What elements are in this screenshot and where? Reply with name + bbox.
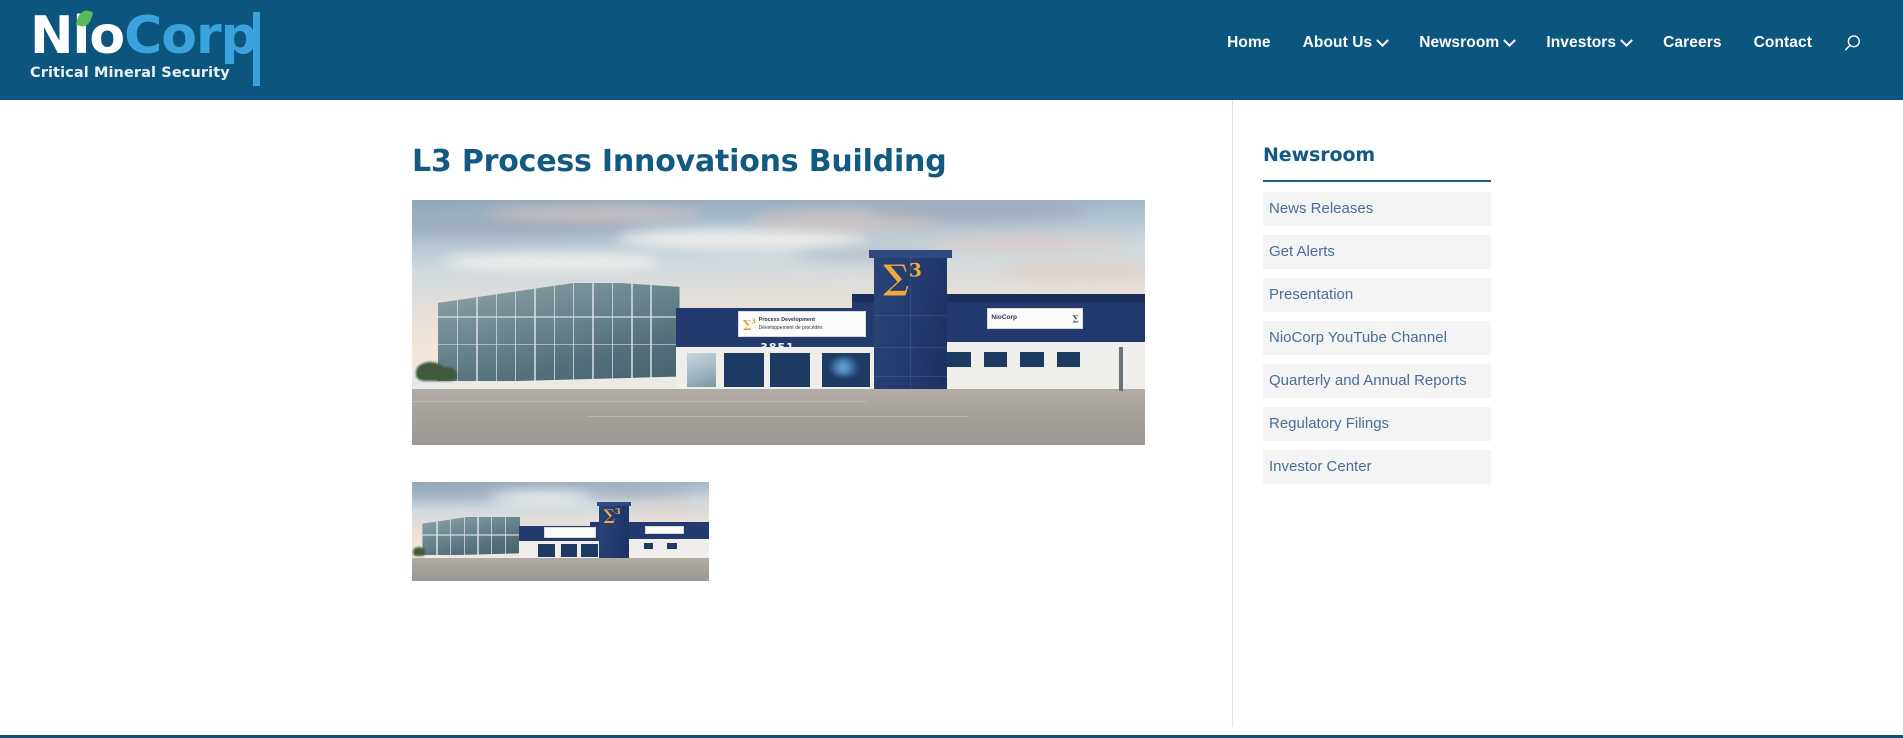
chevron-down-icon — [1503, 34, 1516, 47]
corner-sign: NioCorp ∑ — [987, 308, 1082, 329]
nav-label: About Us — [1303, 34, 1373, 52]
corner-sign-text: NioCorp — [991, 314, 1017, 323]
main-navigation: Home About Us Newsroom Investors Careers… — [1211, 30, 1863, 56]
column-divider — [1232, 100, 1233, 727]
nav-item-newsroom[interactable]: Newsroom — [1403, 30, 1530, 56]
wall-sign-line2: Développement de procédés — [759, 325, 823, 332]
chevron-down-icon — [1376, 34, 1389, 47]
nav-label: Home — [1227, 34, 1270, 52]
thumbnail-image[interactable]: ∑3 — [412, 482, 709, 581]
nav-item-about-us[interactable]: About Us — [1287, 30, 1404, 56]
building-photo-scene: NioCorp ∑ — [412, 200, 1145, 445]
logo-text-nio: Nio — [30, 6, 124, 66]
nav-item-home[interactable]: Home — [1211, 30, 1286, 56]
sidebar-item-investor-center[interactable]: Investor Center — [1263, 450, 1491, 484]
chevron-down-icon — [1620, 34, 1633, 47]
sigma-logo-icon: ∑3 — [883, 261, 922, 295]
sidebar: Newsroom News Releases Get Alerts Presen… — [1263, 100, 1491, 493]
wall-sign-line1: Process Development — [759, 317, 823, 324]
site-logo[interactable]: NioCorp Critical Mineral Security — [30, 8, 257, 81]
sidebar-item-regulatory-filings[interactable]: Regulatory Filings — [1263, 407, 1491, 441]
sidebar-item-youtube-channel[interactable]: NioCorp YouTube Channel — [1263, 321, 1491, 355]
street-number: 3851 — [760, 341, 795, 354]
logo-tagline: Critical Mineral Security — [30, 65, 257, 81]
main-content: L3 Process Innovations Building — [412, 100, 1152, 581]
featured-image[interactable]: NioCorp ∑ — [412, 200, 1145, 445]
nav-label: Investors — [1546, 34, 1616, 52]
sidebar-item-presentation[interactable]: Presentation — [1263, 278, 1491, 312]
sidebar-title: Newsroom — [1263, 144, 1491, 166]
sidebar-item-news-releases[interactable]: News Releases — [1263, 192, 1491, 226]
logo-text-corp: Corp — [124, 6, 257, 66]
nav-label: Careers — [1663, 34, 1721, 52]
sidebar-menu: News Releases Get Alerts Presentation Ni… — [1263, 192, 1491, 484]
page-body: L3 Process Innovations Building — [0, 100, 1903, 738]
parking-lot — [412, 389, 1145, 445]
logo-bar-accent — [253, 12, 260, 86]
nav-label: Newsroom — [1419, 34, 1499, 52]
nav-label: Contact — [1754, 34, 1812, 52]
nav-item-careers[interactable]: Careers — [1647, 30, 1737, 56]
search-icon[interactable] — [1842, 33, 1863, 54]
logo-wordmark: NioCorp — [30, 8, 257, 64]
sidebar-title-rule — [1263, 180, 1491, 182]
page-title: L3 Process Innovations Building — [412, 144, 1152, 179]
sigma-logo-small: ∑3 — [743, 319, 755, 330]
sidebar-item-quarterly-annual-reports[interactable]: Quarterly and Annual Reports — [1263, 364, 1491, 398]
site-header: NioCorp Critical Mineral Security Home A… — [0, 0, 1903, 100]
wall-sign: ∑3 Process Development Développement de … — [738, 311, 866, 337]
nav-item-contact[interactable]: Contact — [1738, 30, 1828, 56]
sidebar-item-get-alerts[interactable]: Get Alerts — [1263, 235, 1491, 269]
nav-item-investors[interactable]: Investors — [1530, 30, 1647, 56]
building-photo-thumbnail-scene: ∑3 — [412, 482, 709, 581]
